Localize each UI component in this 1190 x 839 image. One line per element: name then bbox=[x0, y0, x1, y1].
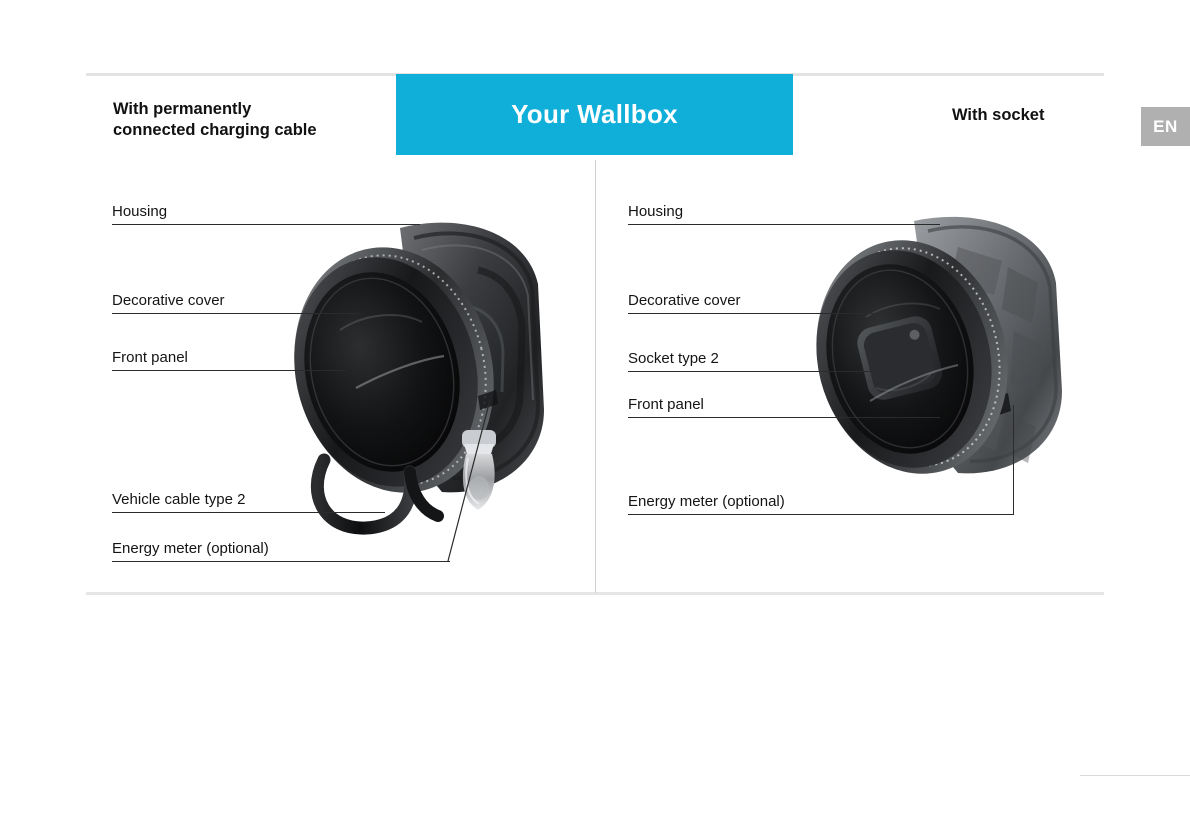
panel-with-socket: Housing Decorative cover Socket type 2 F… bbox=[600, 160, 1104, 592]
callout-housing: Housing bbox=[112, 204, 420, 225]
wallbox-with-cable-image bbox=[282, 210, 562, 540]
callout-front-panel-leader bbox=[628, 417, 940, 418]
callout-decorative-cover: Decorative cover bbox=[112, 293, 360, 314]
callout-energy-meter-vertical-leader bbox=[1013, 405, 1014, 515]
callout-housing-leader bbox=[628, 224, 940, 225]
callout-decorative-cover-label: Decorative cover bbox=[628, 293, 880, 313]
callout-socket-type-2: Socket type 2 bbox=[628, 351, 892, 372]
footer-rule bbox=[1080, 775, 1190, 776]
callout-front-panel-label: Front panel bbox=[112, 350, 346, 370]
callout-energy-meter-label: Energy meter (optional) bbox=[628, 494, 1014, 514]
page-title: Your Wallbox bbox=[511, 99, 678, 130]
callout-housing: Housing bbox=[628, 204, 940, 225]
callout-housing-leader bbox=[112, 224, 420, 225]
header-banner: Your Wallbox bbox=[396, 74, 793, 155]
callout-front-panel: Front panel bbox=[628, 397, 940, 418]
callout-decorative-cover-leader bbox=[112, 313, 360, 314]
header-right-title: With socket bbox=[952, 106, 1044, 125]
callout-decorative-cover-label: Decorative cover bbox=[112, 293, 360, 313]
callout-energy-meter-leader bbox=[112, 561, 450, 562]
page-root: With permanently connected charging cabl… bbox=[0, 0, 1190, 839]
header-left-title: With permanently connected charging cabl… bbox=[113, 99, 388, 141]
callout-decorative-cover: Decorative cover bbox=[628, 293, 880, 314]
callout-energy-meter-leader bbox=[628, 514, 1014, 515]
callout-front-panel-leader bbox=[112, 370, 346, 371]
panel-with-cable: Housing Decorative cover Front panel Veh… bbox=[86, 160, 595, 592]
callout-energy-meter-diagonal-leader bbox=[446, 398, 496, 563]
callout-housing-label: Housing bbox=[112, 204, 420, 224]
callout-front-panel: Front panel bbox=[112, 350, 346, 371]
callout-front-panel-label: Front panel bbox=[628, 397, 940, 417]
callout-socket-type-2-label: Socket type 2 bbox=[628, 351, 892, 371]
callout-energy-meter-label: Energy meter (optional) bbox=[112, 541, 450, 561]
callout-vehicle-cable: Vehicle cable type 2 bbox=[112, 492, 385, 513]
callout-energy-meter: Energy meter (optional) bbox=[112, 541, 450, 562]
callout-housing-label: Housing bbox=[628, 204, 940, 224]
callout-vehicle-cable-leader bbox=[112, 512, 385, 513]
panel-separator bbox=[595, 160, 596, 593]
language-badge[interactable]: EN bbox=[1141, 107, 1190, 146]
callout-vehicle-cable-label: Vehicle cable type 2 bbox=[112, 492, 385, 512]
callout-energy-meter: Energy meter (optional) bbox=[628, 494, 1014, 515]
callout-decorative-cover-leader bbox=[628, 313, 880, 314]
callout-socket-type-2-leader bbox=[628, 371, 892, 372]
